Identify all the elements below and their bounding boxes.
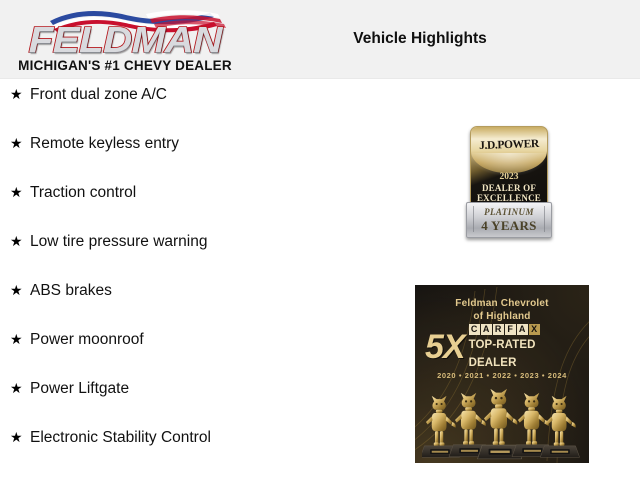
- carfax-dealer-name: Feldman Chevrolet of Highland: [415, 297, 589, 323]
- carfax-logo: C A R F A X: [469, 324, 583, 335]
- list-item: ★ Power Liftgate: [0, 380, 400, 429]
- carfax-letter: A: [517, 324, 528, 335]
- page-title: Vehicle Highlights: [200, 30, 640, 48]
- carfax-brand-block: C A R F A X TOP-RATED DEALER: [469, 324, 583, 371]
- star-icon: ★: [10, 332, 30, 346]
- carfax-trophy-figures: [422, 381, 582, 461]
- list-item: ★ Traction control: [0, 184, 400, 233]
- star-icon: ★: [10, 234, 30, 248]
- star-icon: ★: [10, 283, 30, 297]
- carfax-top-rated-line1: TOP-RATED: [469, 339, 536, 351]
- carfax-letter: C: [469, 324, 480, 335]
- list-item: ★ Remote keyless entry: [0, 135, 400, 184]
- jd-power-tier: PLATINUM: [467, 207, 551, 217]
- carfax-letter: X: [529, 324, 540, 335]
- star-icon: ★: [10, 136, 30, 150]
- jd-power-ribbon: PLATINUM 4 YEARS: [466, 202, 552, 238]
- dealer-tagline: MICHIGAN'S #1 CHEVY DEALER: [14, 58, 236, 73]
- star-icon: ★: [10, 87, 30, 101]
- jd-power-plaque: J.D.POWER 2023 DEALER OF EXCELLENCE: [470, 126, 548, 214]
- carfax-top-rated-line2: DEALER: [469, 357, 517, 369]
- jd-power-award-badge: J.D.POWER 2023 DEALER OF EXCELLENCE PLAT…: [466, 126, 550, 236]
- carfax-letter: R: [493, 324, 504, 335]
- vehicle-features-list: ★ Front dual zone A/C ★ Remote keyless e…: [0, 86, 400, 478]
- list-item: ★ Low tire pressure warning: [0, 233, 400, 282]
- carfax-multiplier: 5X: [425, 330, 465, 364]
- carfax-dealer-line2: of Highland: [415, 310, 589, 323]
- feature-label: Low tire pressure warning: [30, 233, 207, 251]
- feature-label: Remote keyless entry: [30, 135, 179, 153]
- feature-label: Electronic Stability Control: [30, 429, 211, 447]
- list-item: ★ ABS brakes: [0, 282, 400, 331]
- page-header: FELDMAN MICHIGAN'S #1 CHEVY DEALER Vehic…: [0, 0, 640, 78]
- jd-power-duration: 4 YEARS: [467, 218, 551, 234]
- feature-label: Traction control: [30, 184, 136, 202]
- feature-label: Front dual zone A/C: [30, 86, 167, 104]
- feldman-wordmark-text: FELDMAN: [28, 22, 221, 58]
- carfax-letter: F: [505, 324, 516, 335]
- list-item: ★ Power moonroof: [0, 331, 400, 380]
- carfax-award-headline: 5X C A R F A X TOP-RATED DEALER: [425, 329, 583, 365]
- carfax-letter: A: [481, 324, 492, 335]
- star-icon: ★: [10, 185, 30, 199]
- carfax-top-rated-dealer-award: Feldman Chevrolet of Highland 5X C A R F…: [415, 285, 589, 463]
- list-item: ★ Front dual zone A/C: [0, 86, 400, 135]
- feature-label: Power Liftgate: [30, 380, 129, 398]
- feature-label: Power moonroof: [30, 331, 144, 349]
- star-icon: ★: [10, 430, 30, 444]
- header-divider: [0, 78, 640, 79]
- carfax-dealer-line1: Feldman Chevrolet: [415, 297, 589, 310]
- jd-power-award-line1: DEALER OF: [471, 183, 547, 193]
- list-item: ★ Electronic Stability Control: [0, 429, 400, 478]
- vehicle-highlights-page: FELDMAN MICHIGAN'S #1 CHEVY DEALER Vehic…: [0, 0, 640, 480]
- star-icon: ★: [10, 381, 30, 395]
- carfax-award-years: 2020 • 2021 • 2022 • 2023 • 2024: [415, 371, 589, 380]
- feature-label: ABS brakes: [30, 282, 112, 300]
- jd-power-year: 2023: [471, 172, 547, 182]
